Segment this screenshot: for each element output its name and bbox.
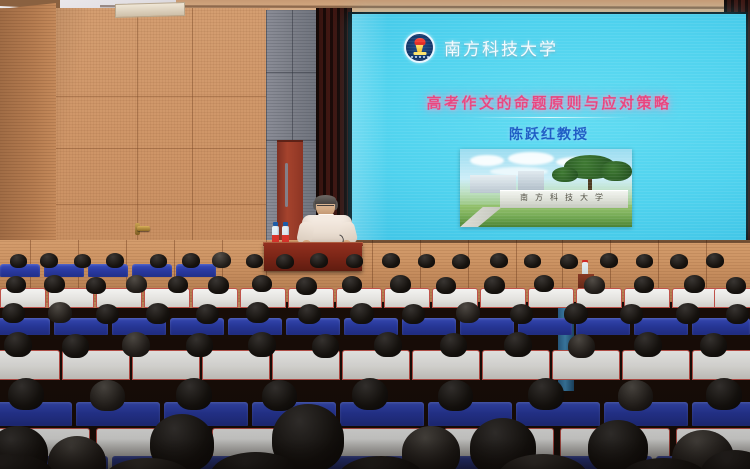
ceiling-air-vent-icon	[115, 2, 185, 18]
eyeglasses-icon	[317, 205, 334, 210]
door-handle-icon	[137, 226, 150, 231]
slide-title: 高考作文的命题原则与应对策略	[352, 92, 746, 113]
campus-gate-inscription: 南方科技大学	[506, 192, 624, 204]
seated-audience	[0, 252, 750, 469]
slide-header: 南方科技大学	[404, 32, 558, 63]
projection-screen[interactable]: 南方科技大学 高考作文的命题原则与应对策略 陈跃红教授 南方科技大学	[352, 14, 746, 240]
slide-subtitle: 陈跃红教授	[352, 124, 746, 144]
presenter	[296, 196, 358, 248]
screen-bottom-shadow	[348, 240, 750, 243]
foreground-shadow	[0, 439, 750, 469]
side-door-push-bar[interactable]	[285, 163, 288, 207]
sustech-emblem-icon	[404, 32, 435, 63]
slide-title-divider	[470, 117, 630, 118]
slide-campus-photo: 南方科技大学	[460, 149, 632, 227]
presenter-hair	[315, 195, 336, 204]
lecture-hall-photo: 南方科技大学 高考作文的命题原则与应对策略 陈跃红教授 南方科技大学	[0, 0, 750, 469]
university-name: 南方科技大学	[444, 35, 558, 60]
